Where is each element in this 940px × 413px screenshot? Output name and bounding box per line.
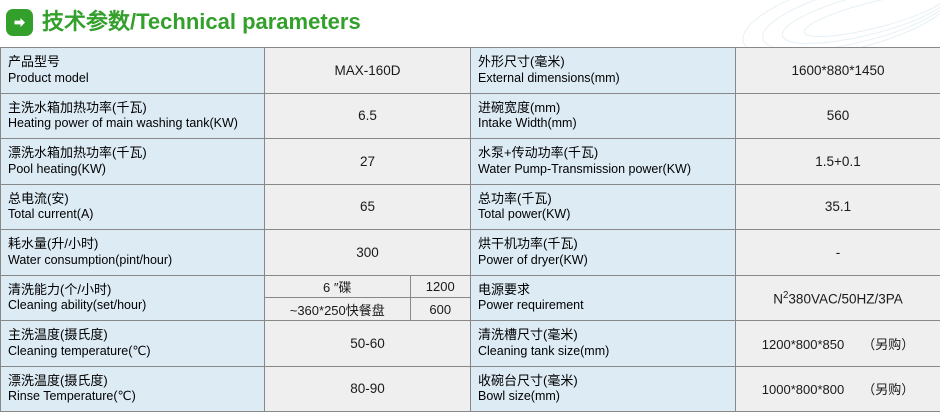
cleaning-ability-desc: ~360*250快餐盘 — [265, 298, 410, 320]
label-cn: 清洗能力(个/小时) — [8, 282, 264, 298]
label-en: External dimensions(mm) — [478, 71, 735, 87]
parameter-value-power-requirement: N2380VAC/50HZ/3PA — [736, 275, 940, 321]
parameter-label-cleaning-tank-size: 清洗槽尺寸(毫米) Cleaning tank size(mm) — [471, 321, 736, 367]
parameter-value-intake-width: 560 — [736, 93, 940, 139]
table-row: 漂洗水箱加热功率(千瓦) Pool heating(KW) 27 水泵+传动功率… — [1, 139, 940, 185]
parameter-label-dryer-power: 烘干机功率(千瓦) Power of dryer(KW) — [471, 230, 736, 276]
parameter-value-dryer-power: - — [736, 230, 940, 276]
parameter-value-water-consumption: 300 — [265, 230, 471, 276]
parameter-value-main-tank-heating-power: 6.5 — [265, 93, 471, 139]
label-cn: 主洗水箱加热功率(千瓦) — [8, 100, 264, 116]
label-cn: 收碗台尺寸(毫米) — [478, 373, 735, 389]
parameter-value-cleaning-ability: 6 ″碟 1200 ~360*250快餐盘 600 — [265, 275, 471, 321]
parameter-label-main-tank-heating-power: 主洗水箱加热功率(千瓦) Heating power of main washi… — [1, 93, 265, 139]
parameter-value-total-current: 65 — [265, 184, 471, 230]
page-title: 技术参数/Technical parameters — [42, 11, 361, 33]
parameter-value-total-power: 35.1 — [736, 184, 940, 230]
label-cn: 主洗温度(摄氏度) — [8, 327, 264, 343]
arrow-right-icon — [6, 9, 33, 36]
label-en: Total current(A) — [8, 207, 264, 223]
table-row: 漂洗温度(摄氏度) Rinse Temperature(℃) 80-90 收碗台… — [1, 366, 940, 412]
label-cn: 水泵+传动功率(千瓦) — [478, 145, 735, 161]
label-cn: 清洗槽尺寸(毫米) — [478, 327, 735, 343]
technical-parameters-table: 产品型号 Product model MAX-160D 外形尺寸(毫米) Ext… — [0, 47, 940, 412]
label-en: Intake Width(mm) — [478, 116, 735, 132]
cleaning-ability-subtable: 6 ″碟 1200 ~360*250快餐盘 600 — [265, 276, 470, 321]
power-req-suffix: 380VAC/50HZ/3PA — [788, 291, 902, 306]
parameter-value-pool-heating: 27 — [265, 139, 471, 185]
label-en: Cleaning ability(set/hour) — [8, 298, 264, 314]
label-cn: 漂洗水箱加热功率(千瓦) — [8, 145, 264, 161]
label-cn: 电源要求 — [478, 282, 735, 298]
parameter-value-cleaning-temperature: 50-60 — [265, 321, 471, 367]
label-en: Cleaning tank size(mm) — [478, 344, 735, 360]
table-body: 产品型号 Product model MAX-160D 外形尺寸(毫米) Ext… — [1, 48, 940, 412]
parameter-label-product-model: 产品型号 Product model — [1, 48, 265, 94]
label-en: Power requirement — [478, 298, 735, 314]
parameter-value-product-model: MAX-160D — [265, 48, 471, 94]
parameter-value-external-dimensions: 1600*880*1450 — [736, 48, 940, 94]
tank-size-value: 1200*800*850 — [762, 337, 844, 352]
parameter-label-rinse-temperature: 漂洗温度(摄氏度) Rinse Temperature(℃) — [1, 366, 265, 412]
parameter-label-cleaning-ability: 清洗能力(个/小时) Cleaning ability(set/hour) — [1, 275, 265, 321]
parameter-label-total-current: 总电流(安) Total current(A) — [1, 184, 265, 230]
table-row: 耗水量(升/小时) Water consumption(pint/hour) 3… — [1, 230, 940, 276]
cleaning-ability-count: 1200 — [410, 276, 470, 298]
label-en: Product model — [8, 71, 264, 87]
section-header: 技术参数/Technical parameters — [0, 0, 361, 44]
parameter-label-total-power: 总功率(千瓦) Total power(KW) — [471, 184, 736, 230]
parameter-value-rinse-temperature: 80-90 — [265, 366, 471, 412]
table-row: 清洗能力(个/小时) Cleaning ability(set/hour) 6 … — [1, 275, 940, 321]
label-cn: 总电流(安) — [8, 191, 264, 207]
label-en: Cleaning temperature(℃) — [8, 344, 264, 360]
table-row: 产品型号 Product model MAX-160D 外形尺寸(毫米) Ext… — [1, 48, 940, 94]
parameter-label-intake-width: 进碗宽度(mm) Intake Width(mm) — [471, 93, 736, 139]
bowl-size-value: 1000*800*800 — [762, 382, 844, 397]
parameter-label-pool-heating: 漂洗水箱加热功率(千瓦) Pool heating(KW) — [1, 139, 265, 185]
parameter-label-cleaning-temperature: 主洗温度(摄氏度) Cleaning temperature(℃) — [1, 321, 265, 367]
cleaning-ability-count: 600 — [410, 298, 470, 320]
parameter-label-power-requirement: 电源要求 Power requirement — [471, 275, 736, 321]
label-en: Heating power of main washing tank(KW) — [8, 116, 264, 132]
cleaning-ability-desc: 6 ″碟 — [265, 276, 410, 298]
table-row: 总电流(安) Total current(A) 65 总功率(千瓦) Total… — [1, 184, 940, 230]
parameter-label-pump-transmission-power: 水泵+传动功率(千瓦) Water Pump-Transmission powe… — [471, 139, 736, 185]
label-cn: 总功率(千瓦) — [478, 191, 735, 207]
parameter-value-bowl-size: 1000*800*800（另购） — [736, 366, 940, 412]
label-en: Water Pump-Transmission power(KW) — [478, 162, 735, 178]
label-en: Bowl size(mm) — [478, 389, 735, 405]
label-en: Water consumption(pint/hour) — [8, 253, 264, 269]
label-cn: 耗水量(升/小时) — [8, 236, 264, 252]
label-cn: 产品型号 — [8, 54, 264, 70]
bowl-size-note: （另购） — [862, 379, 914, 398]
table-row: 主洗温度(摄氏度) Cleaning temperature(℃) 50-60 … — [1, 321, 940, 367]
parameter-label-bowl-size: 收碗台尺寸(毫米) Bowl size(mm) — [471, 366, 736, 412]
label-en: Pool heating(KW) — [8, 162, 264, 178]
parameter-value-cleaning-tank-size: 1200*800*850（另购） — [736, 321, 940, 367]
tank-size-note: （另购） — [862, 334, 914, 353]
label-cn: 烘干机功率(千瓦) — [478, 236, 735, 252]
label-en: Rinse Temperature(℃) — [8, 389, 264, 405]
parameter-value-pump-transmission-power: 1.5+0.1 — [736, 139, 940, 185]
label-cn: 进碗宽度(mm) — [478, 100, 735, 116]
label-cn: 漂洗温度(摄氏度) — [8, 373, 264, 389]
label-cn: 外形尺寸(毫米) — [478, 54, 735, 70]
parameter-label-external-dimensions: 外形尺寸(毫米) External dimensions(mm) — [471, 48, 736, 94]
power-req-prefix: N — [773, 291, 783, 306]
cleaning-ability-row: 6 ″碟 1200 — [265, 276, 470, 298]
table-row: 主洗水箱加热功率(千瓦) Heating power of main washi… — [1, 93, 940, 139]
label-en: Total power(KW) — [478, 207, 735, 223]
label-en: Power of dryer(KW) — [478, 253, 735, 269]
cleaning-ability-row: ~360*250快餐盘 600 — [265, 298, 470, 320]
parameter-label-water-consumption: 耗水量(升/小时) Water consumption(pint/hour) — [1, 230, 265, 276]
